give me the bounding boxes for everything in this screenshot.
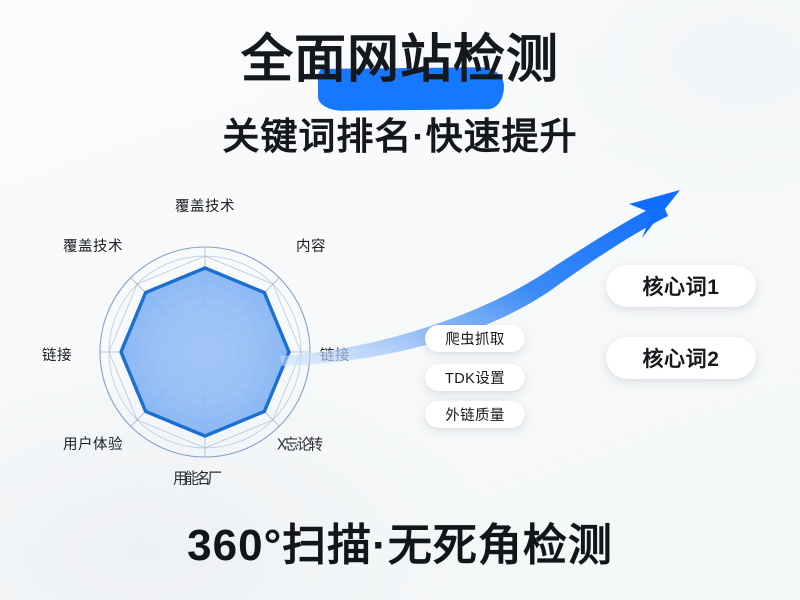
radar-axis-label-upper-left: 覆盖技术: [63, 235, 123, 256]
process-tag-tdk[interactable]: TDK设置: [425, 364, 525, 391]
radar-axis-label-lower-left: 用户体验: [63, 433, 123, 454]
keyword-tag-label: 核心词2: [642, 343, 719, 373]
process-tag-crawl[interactable]: 爬虫抓取: [425, 325, 525, 352]
footer-tagline: 360°扫描·无死角检测: [0, 524, 800, 568]
radar-axis-label-right: 链接: [320, 344, 350, 365]
growth-arrow-head: [629, 190, 680, 238]
radar-axis-label-bottom: 用能名厂: [173, 466, 219, 488]
radar-axis-label-top: 覆盖技术: [175, 195, 235, 216]
radar-axis-label-upper-right: 内容: [296, 235, 326, 256]
radar-chart: 覆盖技术 内容 链接 X忘·论转 用能名厂 用户体验 链接 覆盖技术: [45, 190, 385, 510]
radar-axis-label-left: 链接: [42, 344, 72, 365]
process-tag-label: TDK设置: [445, 367, 505, 388]
keyword-tag-2[interactable]: 核心词2: [606, 337, 756, 379]
keyword-tag-label: 核心词1: [642, 271, 719, 301]
page-subtitle: 关键词排名·快速提升: [0, 118, 800, 155]
poster-canvas: 全面网站检测 关键词排名·快速提升: [0, 0, 800, 600]
radar-data-polygon: [121, 268, 289, 436]
process-tag-label: 外链质量: [445, 404, 505, 425]
radar-axis-label-lower-right: X忘·论转: [277, 432, 320, 454]
page-title: 全面网站检测: [241, 34, 559, 86]
process-tag-label: 爬虫抓取: [445, 328, 505, 349]
title-area: 全面网站检测: [0, 34, 800, 86]
keyword-tag-1[interactable]: 核心词1: [606, 265, 756, 307]
process-tag-backlink[interactable]: 外链质量: [425, 401, 525, 428]
